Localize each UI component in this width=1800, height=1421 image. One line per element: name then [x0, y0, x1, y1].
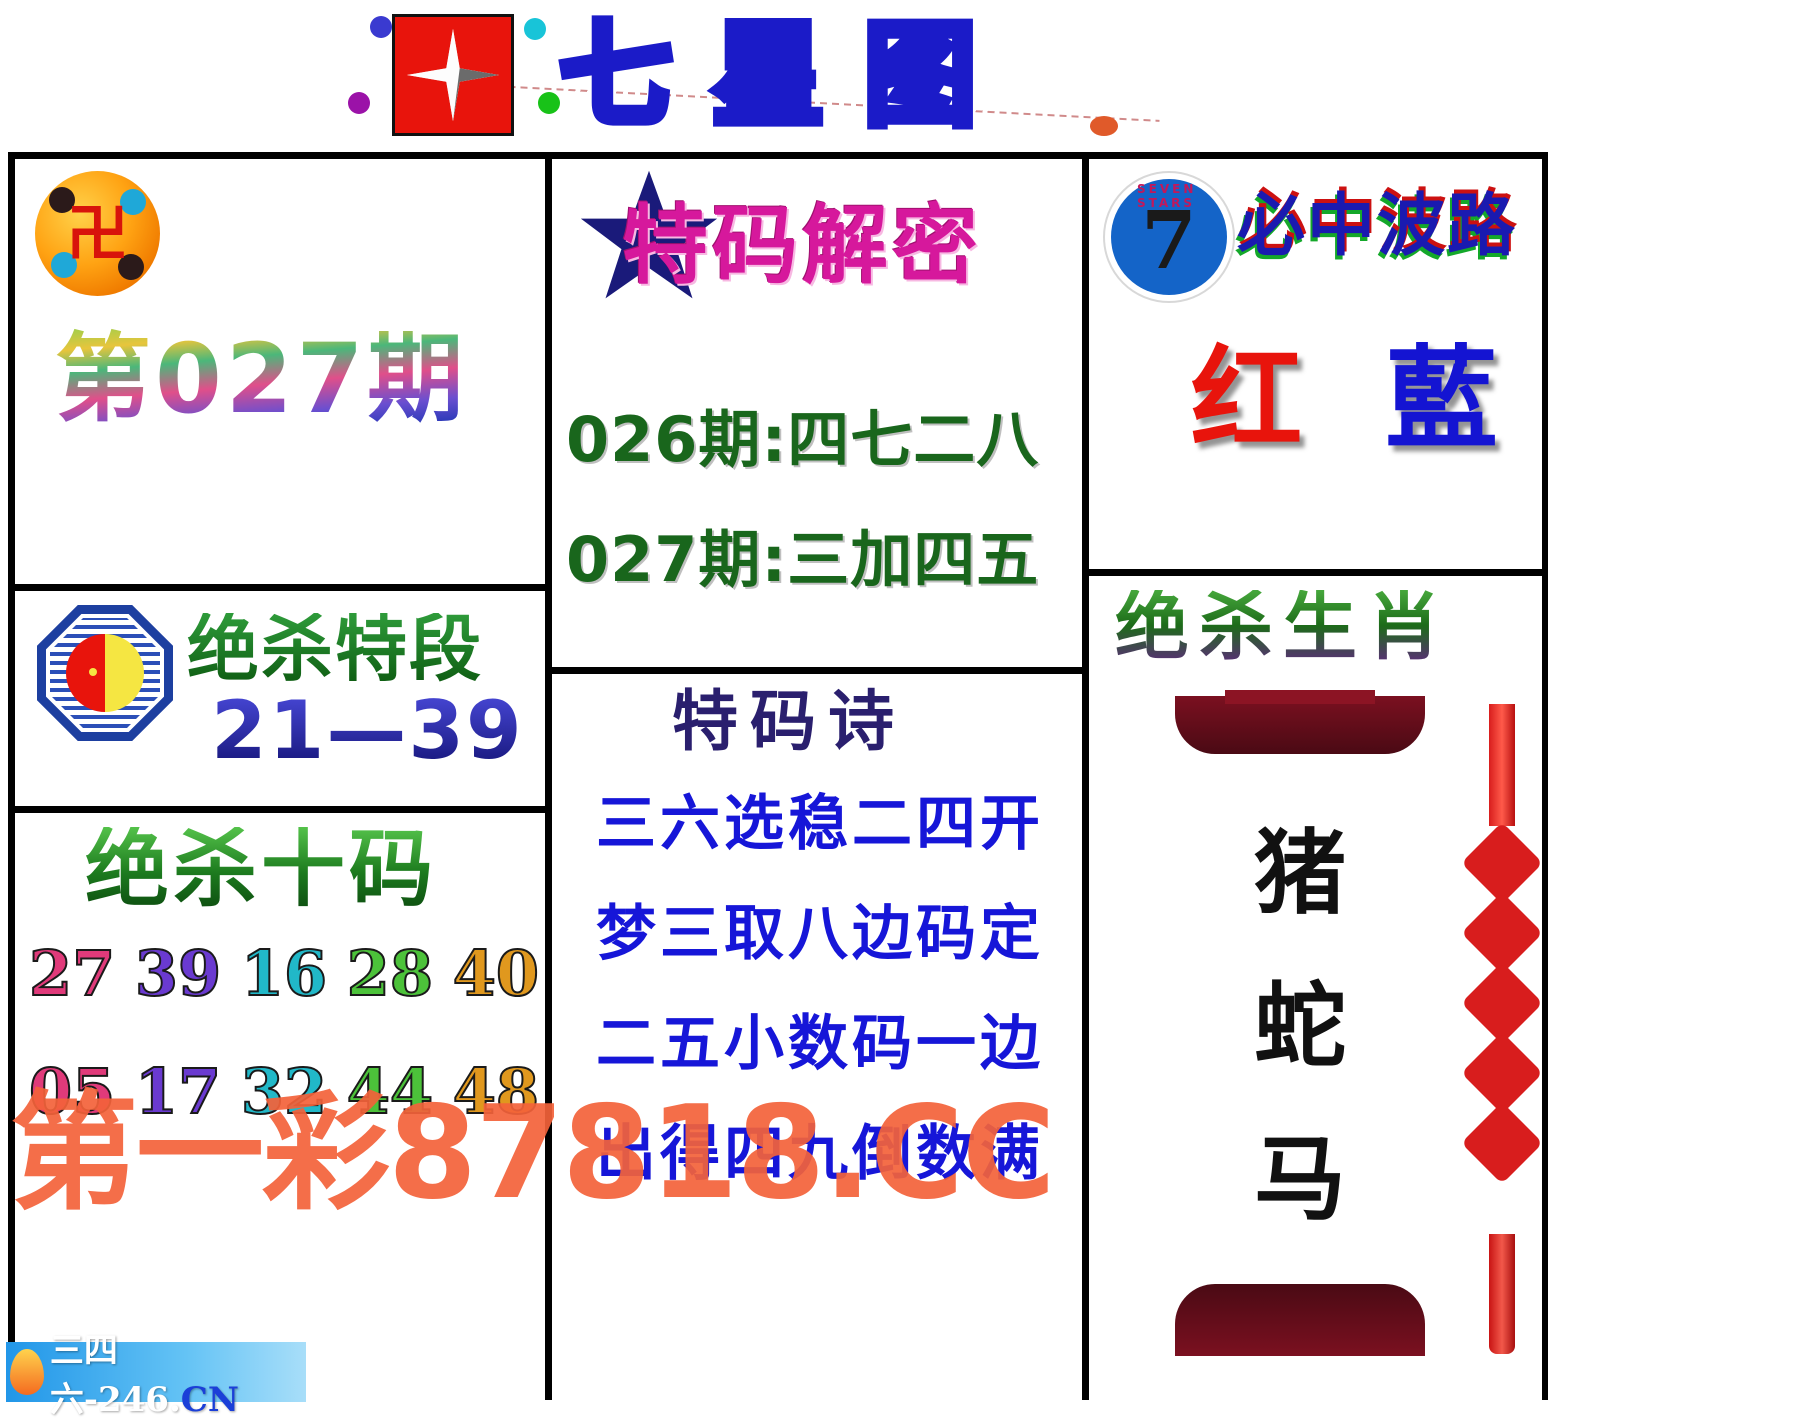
- bagua-yinyang-icon: [37, 605, 173, 741]
- decor-dot: [538, 92, 560, 114]
- decrypt-panel: 特码解密 026期:四七二八 027期:三加四五: [552, 159, 1082, 667]
- kill-number: 27: [29, 943, 115, 1005]
- kill-segment-title: 绝杀特段: [187, 613, 483, 685]
- title-char-1: 七: [560, 20, 672, 132]
- page-title: 七 星 图: [560, 6, 976, 146]
- scroll-bottom-bar: [1175, 1284, 1425, 1356]
- decor-dot: [524, 18, 546, 40]
- poem-line: 二五小数码一边: [570, 1014, 1070, 1074]
- decor-dot: [1090, 116, 1118, 136]
- wave-title-char: 必: [1237, 187, 1307, 266]
- wave-colors: 红 藍: [1149, 344, 1539, 456]
- flame-icon: [10, 1349, 44, 1395]
- decor-dot: [348, 92, 370, 114]
- period-panel: 卍 第027期: [15, 159, 545, 584]
- decrypt-line-1: 026期:四七二八: [566, 409, 1039, 471]
- wave-title-char: 路: [1447, 187, 1517, 266]
- zodiac-list: 猪 蛇 马: [1175, 766, 1425, 1286]
- watermark-text: 第一彩87818.CC: [10, 1090, 1160, 1218]
- wave-title-char: 波: [1377, 187, 1447, 266]
- decrypt-line-2: 027期:三加四五: [566, 529, 1039, 591]
- swastika-glyph: 卍: [66, 203, 128, 265]
- seven-stars-logo: SEVEN STARS 7: [1103, 171, 1235, 303]
- wave-panel: SEVEN STARS 7 必中波路 红 藍: [1089, 159, 1542, 569]
- grid-divider-horizontal: [1082, 569, 1542, 576]
- title-char-3: 图: [864, 20, 976, 132]
- kill-number: 40: [453, 943, 539, 1005]
- kill-number: 16: [241, 943, 327, 1005]
- grid-divider-horizontal: [15, 806, 545, 813]
- poem-title: 特码诗: [672, 688, 906, 754]
- red-star-logo: [392, 14, 514, 136]
- zodiac-item: 猪: [1254, 827, 1346, 919]
- poem-line: 三六选稳二四开: [570, 794, 1070, 854]
- seven-number: 7: [1141, 200, 1197, 280]
- kill-number: 39: [135, 943, 221, 1005]
- site-badge[interactable]: 三四六-246.CN: [6, 1342, 306, 1402]
- page-header: 七 星 图: [0, 0, 1555, 150]
- kill-ten-row-1: 27 39 16 28 40: [29, 943, 539, 1005]
- kill-ten-title: 绝杀十码: [85, 827, 437, 911]
- wave-title-char: 中: [1307, 187, 1377, 266]
- decor-dot: [370, 16, 392, 38]
- kill-segment-range: 21—39: [211, 691, 524, 771]
- wave-color-red: 红: [1191, 344, 1303, 456]
- kill-number: 28: [347, 943, 433, 1005]
- decrypt-title: 特码解密: [622, 203, 982, 289]
- wave-title: 必中波路: [1237, 193, 1517, 261]
- site-badge-main: 三四六-246.: [50, 1331, 181, 1420]
- zodiac-scroll: 猪 蛇 马: [1175, 696, 1425, 1356]
- kill-segment-panel: 绝杀特段 21—39: [15, 591, 545, 806]
- period-number: 第027期: [55, 324, 525, 434]
- wave-color-blue: 藍: [1386, 344, 1498, 456]
- zodiac-panel: 绝杀生肖 猪 蛇 马: [1089, 576, 1542, 1400]
- site-badge-cn: CN: [181, 1380, 239, 1420]
- zodiac-item: 蛇: [1254, 980, 1346, 1072]
- zodiac-title: 绝杀生肖: [1115, 590, 1451, 664]
- zodiac-item: 马: [1254, 1133, 1346, 1225]
- site-badge-text: 三四六-246.CN: [50, 1323, 306, 1421]
- poem-line: 梦三取八边码定: [570, 904, 1070, 964]
- grid-divider-horizontal: [15, 584, 545, 591]
- title-char-2: 星: [712, 20, 824, 132]
- four-point-star-icon: [405, 27, 501, 123]
- grid-divider-horizontal: [552, 667, 1082, 674]
- scroll-top-bar: [1175, 696, 1425, 754]
- poem-panel: 特码诗 三六选稳二四开 梦三取八边码定 二五小数码一边 出得四九倒数满: [552, 674, 1082, 1400]
- chinese-knot-icon: [1467, 704, 1537, 1364]
- swastika-sun-logo: 卍: [35, 171, 160, 296]
